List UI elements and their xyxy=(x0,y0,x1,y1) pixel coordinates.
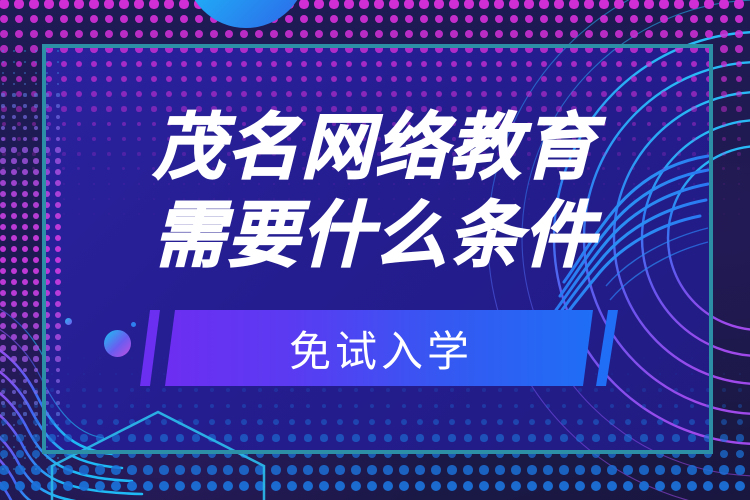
headline-line-2: 需要什么条件 xyxy=(0,191,750,279)
banner-accent-bar-right xyxy=(596,310,618,386)
subtitle-text: 免试入学 xyxy=(165,310,593,386)
headline-line-1: 茂名网络教育 xyxy=(0,103,750,191)
poster-canvas: 茂名网络教育 需要什么条件 免试入学 xyxy=(0,0,750,500)
banner-accent-bar-left xyxy=(140,310,160,386)
subtitle-banner: 免试入学 xyxy=(0,310,750,386)
headline-block: 茂名网络教育 需要什么条件 xyxy=(0,103,750,279)
